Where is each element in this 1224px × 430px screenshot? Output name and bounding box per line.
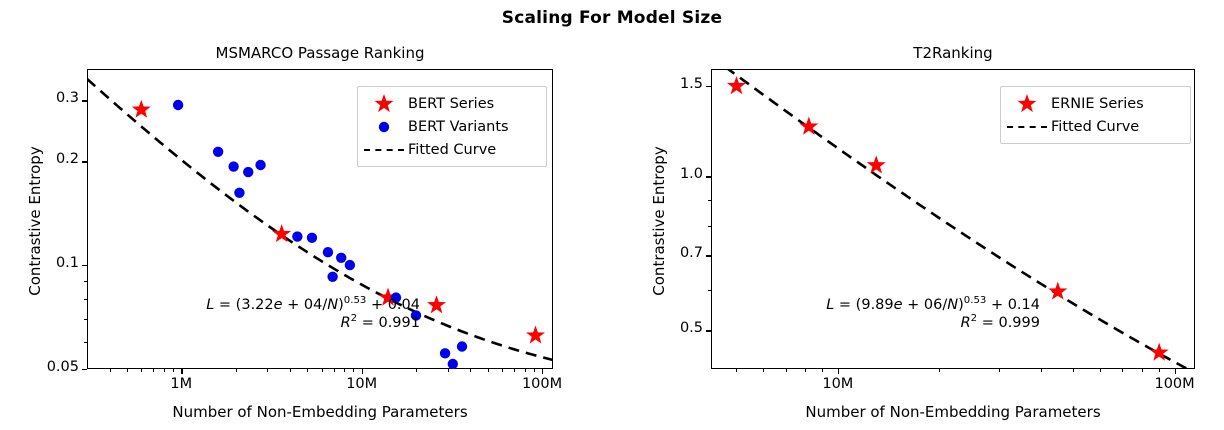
panel-title-msmarco: MSMARCO Passage Ranking bbox=[87, 44, 553, 62]
legend-label: BERT Series bbox=[406, 96, 494, 112]
data-point-circle bbox=[440, 348, 450, 358]
equation-annotation-right: L = (9.89e + 06/N)0.53 + 0.14R2 = 0.999 bbox=[740, 295, 1040, 331]
x-minor-tick bbox=[525, 369, 526, 372]
y-tick-label: 0.05 bbox=[25, 359, 79, 375]
y-minor-tick bbox=[84, 299, 87, 300]
legend-item[interactable]: Fitted Curve bbox=[362, 139, 496, 161]
x-minor-tick bbox=[181, 369, 182, 372]
star-icon bbox=[1005, 93, 1049, 115]
data-point-star bbox=[427, 295, 446, 313]
x-minor-tick bbox=[267, 369, 268, 372]
x-minor-tick bbox=[448, 369, 449, 372]
y-tick-label: 1.5 bbox=[649, 76, 703, 92]
x-tick-label: 10M bbox=[798, 376, 878, 392]
x-minor-tick bbox=[838, 369, 839, 372]
data-point-circle bbox=[323, 247, 333, 257]
data-point-star bbox=[526, 326, 545, 344]
x-minor-tick bbox=[1100, 369, 1101, 372]
data-point-circle bbox=[228, 161, 238, 171]
y-tick-label: 0.1 bbox=[25, 255, 79, 271]
x-minor-tick bbox=[290, 369, 291, 372]
x-minor-tick bbox=[344, 369, 345, 372]
y-tick-label: 1.0 bbox=[649, 166, 703, 182]
y-minor-tick bbox=[708, 290, 711, 291]
y-tick-mark bbox=[82, 369, 87, 370]
star-icon bbox=[362, 93, 406, 115]
x-minor-tick bbox=[763, 369, 764, 372]
x-minor-tick bbox=[141, 369, 142, 372]
legend-item[interactable]: BERT Series bbox=[362, 93, 494, 115]
legend-label: Fitted Curve bbox=[1049, 119, 1139, 135]
data-point-circle bbox=[345, 260, 355, 270]
data-point-circle bbox=[255, 160, 265, 170]
data-point-circle bbox=[457, 341, 467, 351]
y-tick-label: 0.7 bbox=[649, 245, 703, 261]
x-minor-tick bbox=[153, 369, 154, 372]
legend-label: Fitted Curve bbox=[406, 142, 496, 158]
data-point-star bbox=[132, 100, 151, 118]
data-point-circle bbox=[448, 359, 458, 369]
x-minor-tick bbox=[236, 369, 237, 372]
x-tick-label: 1M bbox=[141, 376, 221, 392]
x-minor-tick bbox=[822, 369, 823, 372]
y-minor-tick bbox=[708, 176, 711, 177]
x-minor-tick bbox=[488, 369, 489, 372]
x-minor-tick bbox=[322, 369, 323, 372]
x-minor-tick bbox=[1159, 369, 1160, 372]
y-axis-label-left: Contrastive Entropy bbox=[26, 101, 44, 341]
figure-suptitle: Scaling For Model Size bbox=[0, 8, 1224, 28]
data-point-circle bbox=[327, 272, 337, 282]
legend-t2ranking[interactable]: ERNIE SeriesFitted Curve bbox=[1000, 86, 1191, 144]
y-minor-tick bbox=[708, 226, 711, 227]
x-axis-label-right: Number of Non-Embedding Parameters bbox=[711, 403, 1195, 421]
x-minor-tick bbox=[353, 369, 354, 372]
data-point-circle bbox=[307, 233, 317, 243]
equation-annotation-left: L = (3.22e + 04/N)0.53 + 0.04R2 = 0.991 bbox=[120, 295, 420, 331]
x-minor-tick bbox=[307, 369, 308, 372]
x-minor-tick bbox=[534, 369, 535, 372]
legend-label: BERT Variants bbox=[406, 119, 509, 135]
y-tick-mark bbox=[706, 86, 711, 87]
data-point-star bbox=[1048, 282, 1067, 300]
x-minor-tick bbox=[502, 369, 503, 372]
x-axis-label-left: Number of Non-Embedding Parameters bbox=[87, 403, 553, 421]
x-minor-tick bbox=[1175, 369, 1176, 372]
x-minor-tick bbox=[1122, 369, 1123, 372]
y-minor-tick bbox=[708, 330, 711, 331]
x-minor-tick bbox=[1073, 369, 1074, 372]
x-minor-tick bbox=[542, 369, 543, 372]
legend-msmarco[interactable]: BERT SeriesBERT VariantsFitted Curve bbox=[357, 86, 547, 167]
x-minor-tick bbox=[362, 369, 363, 372]
y-tick-label: 0.5 bbox=[649, 320, 703, 336]
legend-item[interactable]: ERNIE Series bbox=[1005, 93, 1144, 115]
y-minor-tick bbox=[84, 161, 87, 162]
y-tick-label: 0.2 bbox=[25, 151, 79, 167]
y-minor-tick bbox=[84, 265, 87, 266]
x-minor-tick bbox=[334, 369, 335, 372]
data-point-circle bbox=[292, 231, 302, 241]
x-minor-tick bbox=[939, 369, 940, 372]
y-minor-tick bbox=[84, 100, 87, 101]
x-minor-tick bbox=[470, 369, 471, 372]
circle-icon bbox=[362, 116, 406, 138]
data-point-circle bbox=[213, 147, 223, 157]
y-axis-label-right: Contrastive Entropy bbox=[650, 101, 668, 341]
dashed-line-icon bbox=[362, 149, 406, 151]
x-tick-label: 100M bbox=[1135, 376, 1215, 392]
dashed-line-icon bbox=[1005, 126, 1049, 128]
x-tick-label: 10M bbox=[322, 376, 402, 392]
y-minor-tick bbox=[84, 281, 87, 282]
data-point-circle bbox=[234, 188, 244, 198]
data-point-circle bbox=[243, 167, 253, 177]
x-minor-tick bbox=[127, 369, 128, 372]
x-minor-tick bbox=[1041, 369, 1042, 372]
data-point-circle bbox=[173, 100, 183, 110]
x-minor-tick bbox=[514, 369, 515, 372]
y-minor-tick bbox=[708, 255, 711, 256]
data-point-circle bbox=[336, 253, 346, 263]
x-minor-tick bbox=[110, 369, 111, 372]
y-minor-tick bbox=[84, 319, 87, 320]
x-minor-tick bbox=[173, 369, 174, 372]
x-minor-tick bbox=[999, 369, 1000, 372]
y-minor-tick bbox=[708, 200, 711, 201]
x-minor-tick bbox=[786, 369, 787, 372]
panel-title-t2ranking: T2Ranking bbox=[711, 44, 1195, 62]
figure-canvas: Scaling For Model Size MSMARCO Passage R… bbox=[0, 0, 1224, 430]
x-minor-tick bbox=[416, 369, 417, 372]
y-minor-tick bbox=[84, 342, 87, 343]
legend-label: ERNIE Series bbox=[1049, 96, 1144, 112]
x-tick-label: 100M bbox=[502, 376, 582, 392]
x-minor-tick bbox=[736, 369, 737, 372]
legend-item[interactable]: BERT Variants bbox=[362, 116, 509, 138]
x-minor-tick bbox=[805, 369, 806, 372]
y-tick-label: 0.3 bbox=[25, 90, 79, 106]
legend-item[interactable]: Fitted Curve bbox=[1005, 116, 1139, 138]
x-minor-tick bbox=[1142, 369, 1143, 372]
x-minor-tick bbox=[164, 369, 165, 372]
data-point-star bbox=[867, 155, 886, 173]
